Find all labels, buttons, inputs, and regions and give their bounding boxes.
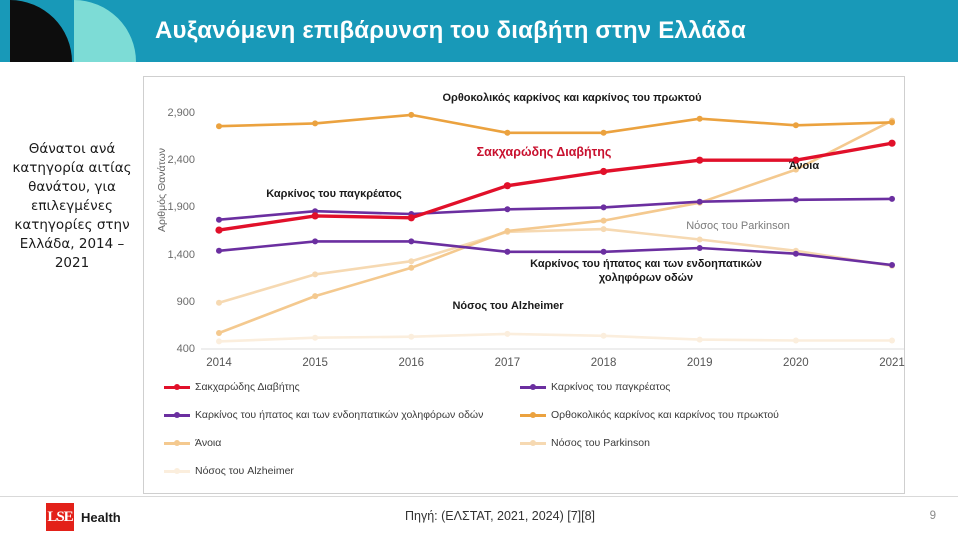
chart-annotation: Νόσος του Alzheimer bbox=[452, 299, 563, 313]
legend-item-label: Καρκίνος του ήπατος και των ενδοηπατικών… bbox=[195, 409, 483, 421]
chart-annotation: Νόσος του Parkinson bbox=[686, 219, 790, 233]
y-axis-tick-label: 1,900 bbox=[144, 201, 195, 213]
data-point bbox=[216, 338, 222, 344]
page-number: 9 bbox=[930, 510, 936, 522]
legend-item-label: Νόσος του Alzheimer bbox=[195, 465, 294, 477]
legend-item[interactable]: Καρκίνος του παγκρέατος bbox=[520, 381, 670, 393]
chart-annotation: Καρκίνος του παγκρέατος bbox=[266, 187, 402, 201]
x-axis-tick-label: 2019 bbox=[670, 357, 730, 369]
series-line bbox=[219, 115, 892, 133]
data-point bbox=[889, 338, 895, 344]
data-point bbox=[216, 300, 222, 306]
data-point bbox=[888, 140, 895, 147]
data-point bbox=[408, 258, 414, 264]
data-point bbox=[504, 331, 510, 337]
legend-color-swatch-icon bbox=[164, 466, 190, 476]
legend-item-label: Ορθοκολικός καρκίνος και καρκίνος του πρ… bbox=[551, 409, 779, 421]
data-point bbox=[408, 214, 415, 221]
y-axis-tick-label: 2,400 bbox=[144, 154, 195, 166]
x-axis-tick-label: 2018 bbox=[574, 357, 634, 369]
series-line bbox=[219, 334, 892, 342]
data-point bbox=[793, 338, 799, 344]
data-point bbox=[312, 120, 318, 126]
legend-color-swatch-icon bbox=[520, 382, 546, 392]
data-point bbox=[408, 265, 414, 271]
lse-health-logo: LSE Health bbox=[46, 503, 121, 531]
data-point bbox=[600, 168, 607, 175]
data-point bbox=[697, 337, 703, 343]
legend-color-swatch-icon bbox=[520, 438, 546, 448]
data-point bbox=[216, 217, 222, 223]
x-axis-tick-label: 2017 bbox=[477, 357, 537, 369]
data-point bbox=[697, 237, 703, 243]
chart-annotation: Σακχαρώδης Διαβήτης bbox=[477, 145, 612, 159]
data-point bbox=[504, 130, 510, 136]
lse-logo-text: Health bbox=[81, 510, 121, 525]
data-point bbox=[216, 248, 222, 254]
legend-row: Νόσος του Alzheimer bbox=[164, 457, 888, 485]
chart-annotation: Άνοια bbox=[789, 159, 819, 173]
legend-item-label: Σακχαρώδης Διαβήτης bbox=[195, 381, 300, 393]
data-point bbox=[408, 112, 414, 118]
data-point bbox=[312, 212, 319, 219]
data-point bbox=[696, 157, 703, 164]
series-3 bbox=[216, 112, 895, 136]
legend-row: ΆνοιαΝόσος του Parkinson bbox=[164, 429, 888, 457]
data-point bbox=[216, 330, 222, 336]
data-point bbox=[601, 218, 607, 224]
data-point bbox=[889, 262, 895, 268]
data-point bbox=[312, 238, 318, 244]
chart-annotation: χοληφόρων οδών bbox=[599, 271, 693, 285]
x-axis-tick-label: 2021 bbox=[862, 357, 922, 369]
data-point bbox=[216, 123, 222, 129]
legend-item[interactable]: Σακχαρώδης Διαβήτης bbox=[164, 381, 520, 393]
x-axis-tick-label: 2015 bbox=[285, 357, 345, 369]
y-axis-tick-label: 400 bbox=[144, 343, 195, 355]
legend-item-label: Καρκίνος του παγκρέατος bbox=[551, 381, 670, 393]
data-point bbox=[697, 116, 703, 122]
data-point bbox=[697, 245, 703, 251]
y-axis-tick-label: 1,400 bbox=[144, 249, 195, 261]
data-point bbox=[793, 122, 799, 128]
legend-color-swatch-icon bbox=[164, 438, 190, 448]
data-point bbox=[601, 226, 607, 232]
legend-item[interactable]: Καρκίνος του ήπατος και των ενδοηπατικών… bbox=[164, 409, 520, 421]
chart-legend: Σακχαρώδης ΔιαβήτηςΚαρκίνος του παγκρέατ… bbox=[164, 373, 888, 485]
data-point bbox=[408, 238, 414, 244]
data-point bbox=[504, 228, 510, 234]
slide-title: Αυξανόμενη επιβάρυνση του διαβήτη στην Ε… bbox=[155, 0, 746, 62]
chart-annotation: Ορθοκολικός καρκίνος και καρκίνος του πρ… bbox=[442, 91, 701, 105]
data-point bbox=[601, 333, 607, 339]
series-6 bbox=[216, 331, 895, 345]
data-point bbox=[312, 293, 318, 299]
x-axis-tick-label: 2016 bbox=[381, 357, 441, 369]
y-axis-tick-label: 900 bbox=[144, 296, 195, 308]
data-point bbox=[312, 335, 318, 341]
data-point bbox=[408, 334, 414, 340]
data-point bbox=[793, 197, 799, 203]
footer-divider bbox=[0, 496, 958, 497]
legend-color-swatch-icon bbox=[164, 410, 190, 420]
source-citation: Πηγή: (ΕΛΣΤΑΤ, 2021, 2024) [7][8] bbox=[405, 509, 595, 523]
legend-item-label: Άνοια bbox=[195, 437, 221, 449]
data-point bbox=[793, 251, 799, 257]
data-point bbox=[697, 199, 703, 205]
page-header: Αυξανόμενη επιβάρυνση του διαβήτη στην Ε… bbox=[0, 0, 958, 62]
legend-item-label: Νόσος του Parkinson bbox=[551, 437, 650, 449]
chart-caption: Θάνατοι ανά κατηγορία αιτίας θανάτου, γι… bbox=[8, 140, 136, 273]
legend-color-swatch-icon bbox=[520, 410, 546, 420]
x-axis-tick-label: 2020 bbox=[766, 357, 826, 369]
legend-item[interactable]: Νόσος του Alzheimer bbox=[164, 465, 520, 477]
data-point bbox=[312, 271, 318, 277]
legend-color-swatch-icon bbox=[164, 382, 190, 392]
data-point bbox=[889, 196, 895, 202]
data-point bbox=[889, 119, 895, 125]
legend-row: Καρκίνος του ήπατος και των ενδοηπατικών… bbox=[164, 401, 888, 429]
chart-annotation: Καρκίνος του ήπατος και των ενδοηπατικών bbox=[530, 257, 762, 271]
data-point bbox=[215, 227, 222, 234]
legend-item[interactable]: Άνοια bbox=[164, 437, 520, 449]
chart-panel: Αριθμός Θανάτων 4009001,4001,9002,4002,9… bbox=[143, 76, 905, 494]
data-point bbox=[601, 204, 607, 210]
legend-item[interactable]: Ορθοκολικός καρκίνος και καρκίνος του πρ… bbox=[520, 409, 779, 421]
data-point bbox=[504, 249, 510, 255]
data-point bbox=[504, 182, 511, 189]
x-axis-tick-label: 2014 bbox=[189, 357, 249, 369]
legend-item[interactable]: Νόσος του Parkinson bbox=[520, 437, 650, 449]
lse-logo-mark: LSE bbox=[46, 503, 74, 531]
data-point bbox=[601, 249, 607, 255]
legend-row: Σακχαρώδης ΔιαβήτηςΚαρκίνος του παγκρέατ… bbox=[164, 373, 888, 401]
data-point bbox=[601, 130, 607, 136]
header-decoration-teal-quarter-circle bbox=[74, 0, 136, 62]
y-axis-tick-label: 2,900 bbox=[144, 107, 195, 119]
data-point bbox=[504, 206, 510, 212]
header-decoration-black-quarter-circle bbox=[10, 0, 72, 62]
